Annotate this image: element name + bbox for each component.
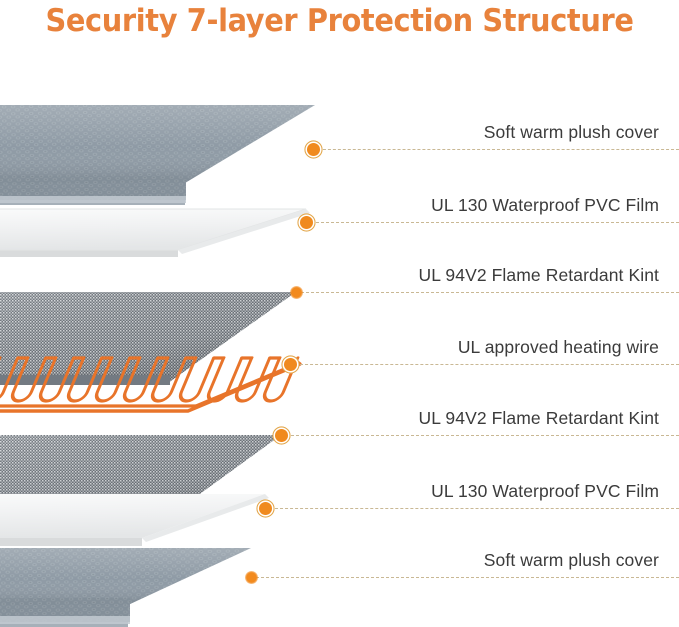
layer-structure-infographic: Security 7-layer Protection Structure [0, 0, 679, 627]
layer-label-7: Soft warm plush cover [484, 550, 659, 571]
leader-line-7 [251, 577, 679, 578]
layer-2-pvc-film [0, 209, 310, 257]
layer-marker-dot-3[interactable] [290, 286, 303, 299]
layer-7-plush-cover [0, 548, 251, 627]
layer-3-flame-retardant-knit [0, 292, 296, 385]
layer-label-1: Soft warm plush cover [484, 122, 659, 143]
leader-line-4 [290, 364, 679, 365]
leader-line-2 [306, 222, 679, 223]
layer-marker-dot-1[interactable] [307, 143, 320, 156]
layer-6-pvc-film [0, 494, 269, 546]
layer-1-plush-cover [0, 105, 315, 205]
layer-label-4: UL approved heating wire [458, 337, 659, 358]
layer-marker-dot-4[interactable] [284, 358, 297, 371]
leader-line-1 [313, 149, 679, 150]
layer-marker-dot-7[interactable] [245, 571, 258, 584]
leader-line-6 [265, 508, 679, 509]
layer-label-5: UL 94V2 Flame Retardant Kint [419, 408, 659, 429]
layer-marker-dot-6[interactable] [259, 502, 272, 515]
layer-marker-dot-5[interactable] [275, 429, 288, 442]
layer-marker-dot-2[interactable] [300, 216, 313, 229]
layer-label-6: UL 130 Waterproof PVC Film [431, 481, 659, 502]
layer-label-3: UL 94V2 Flame Retardant Kint [419, 265, 659, 286]
exploded-layer-artwork [0, 0, 679, 627]
leader-line-5 [281, 435, 679, 436]
layer-label-2: UL 130 Waterproof PVC Film [431, 195, 659, 216]
leader-line-3 [296, 292, 679, 293]
